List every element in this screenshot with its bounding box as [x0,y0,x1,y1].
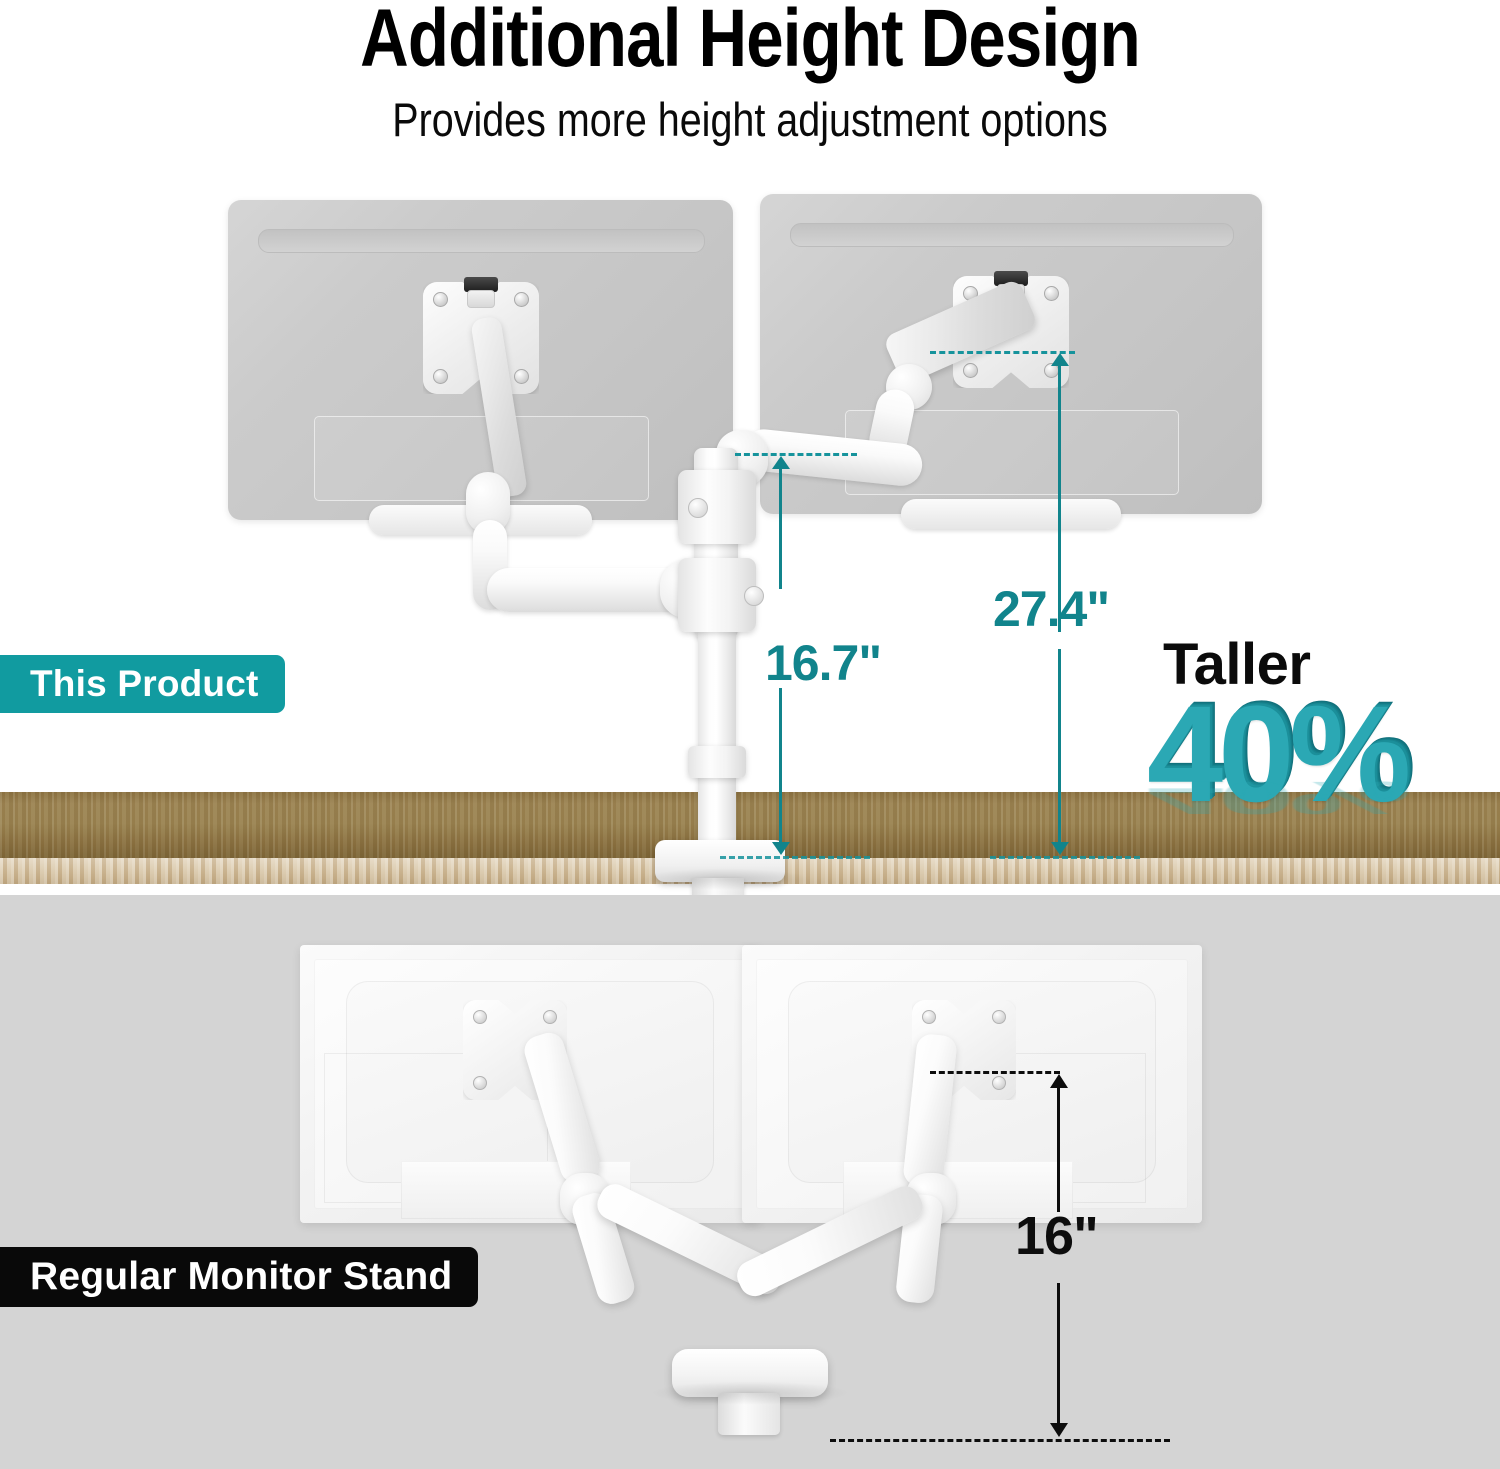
arrow-down-27 [1051,842,1069,855]
measure-label-16-7: 16.7" [765,634,881,692]
vesa-screw [514,369,529,384]
callout-taller: Taller 40% 40% [1163,636,1483,694]
guide-dash-16-base [830,1439,1170,1442]
guide-dash-16-7 [735,453,857,456]
page-subtitle: Provides more height adjustment options [120,92,1380,147]
monitor-bottom-bar [901,499,1122,529]
vesa-screw [433,369,448,384]
base-shadow [650,1381,850,1405]
badge-regular-monitor-stand: Regular Monitor Stand [0,1247,478,1307]
arrow-down-16 [1050,1423,1068,1437]
clamp-shadow [640,868,810,890]
vesa-screw [992,1010,1006,1024]
vesa-screw [1044,286,1059,301]
pole-collar-lower-knob [744,586,764,606]
guide-dash-16-7-base [720,856,870,859]
callout-percent-reflection: 40% [1147,774,1406,821]
monitor-vent-slot [790,223,1234,247]
infographic-root: Additional Height Design Provides more h… [0,0,1500,1469]
badge-this-product: This Product [0,655,285,713]
measure-line-16-lower [1057,1283,1060,1429]
vesa-screw [433,292,448,307]
measure-line-16-upper [1057,1086,1060,1212]
vesa-tilt-collar [467,290,495,308]
vesa-screw [963,363,978,378]
vesa-screw [992,1076,1006,1090]
vesa-screw [922,1010,936,1024]
arrow-down-16-7 [772,842,790,855]
measure-label-16: 16" [1015,1205,1098,1267]
center-pole-lower [698,628,736,856]
measure-line-16-7-upper [779,467,782,589]
page-title: Additional Height Design [135,0,1365,82]
pole-stop-ring [688,746,746,778]
pole-collar-upper-knob [688,498,708,518]
measure-label-27: 27.4" [993,580,1109,638]
measure-line-16-7-lower [779,688,782,848]
monitor-vent-slot [258,229,704,253]
vesa-screw [473,1076,487,1090]
guide-dash-27-base [990,856,1140,859]
panel-regular-monitor-stand: 16" [0,895,1500,1469]
guide-dash-16 [930,1071,1060,1074]
vesa-screw [473,1010,487,1024]
vesa-screw [543,1010,557,1024]
measure-line-27-lower [1058,649,1061,849]
vesa-screw [514,292,529,307]
